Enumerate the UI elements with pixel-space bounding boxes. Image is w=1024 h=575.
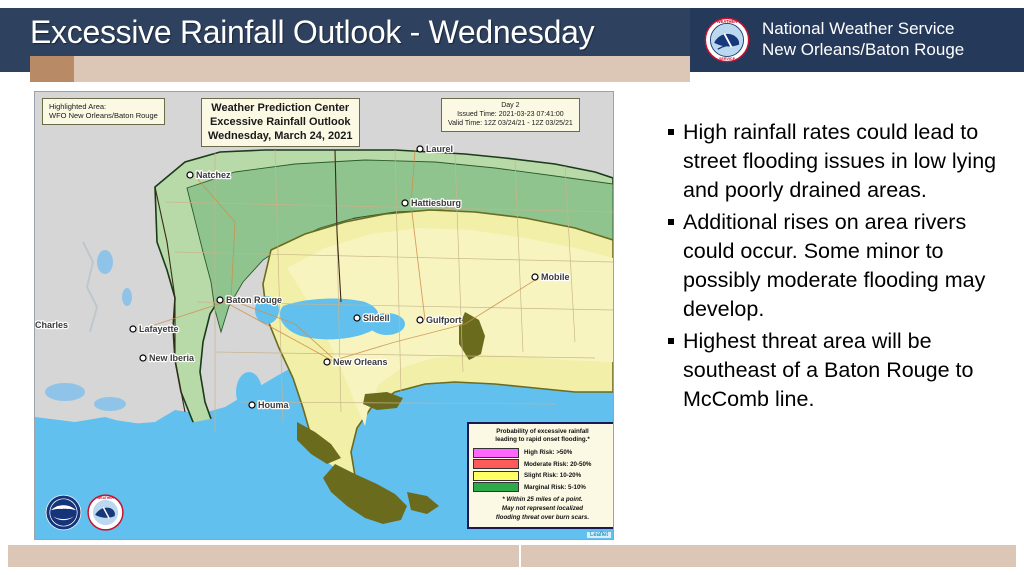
highlighted-area-line-1: Highlighted Area: (49, 102, 158, 111)
svg-text:WEATHER: WEATHER (717, 19, 738, 24)
city-label-houma: Houma (258, 400, 289, 410)
wpc-line-2: Excessive Rainfall Outlook (208, 116, 353, 130)
highlighted-area-line-2: WFO New Orleans/Baton Rouge (49, 111, 158, 120)
accent-stripe (30, 56, 690, 82)
svg-text:SERVICE: SERVICE (719, 57, 736, 61)
highlighted-area-callout: Highlighted Area: WFO New Orleans/Baton … (42, 98, 165, 125)
wpc-title-callout: Weather Prediction Center Excessive Rain… (201, 98, 360, 147)
city-label-hattiesburg: Hattiesburg (411, 198, 461, 208)
agency-line-2: New Orleans/Baton Rouge (762, 40, 964, 61)
nws-seal-icon: WEATHER SERVICE (704, 17, 750, 63)
key-messages-list: High rainfall rates could lead to street… (668, 118, 1012, 416)
city-label-slidell: Slidell (363, 313, 390, 323)
legend-label: High Risk: >50% (524, 449, 572, 456)
wpc-line-3: Wednesday, March 24, 2021 (208, 130, 353, 144)
noaa-seal-icon: NOAA (45, 494, 82, 531)
legend-note-line-2: May not represent localized (473, 505, 612, 514)
wpc-line-1: Weather Prediction Center (208, 102, 353, 116)
svg-text:NOAA: NOAA (56, 505, 71, 511)
legend-label: Marginal Risk: 5-10% (524, 484, 586, 491)
page-title: Excessive Rainfall Outlook - Wednesday (30, 14, 594, 51)
nws-seal-small-icon: WEATHER (87, 494, 124, 531)
day-line-1: Day 2 (448, 102, 573, 111)
legend-label: Slight Risk: 10-20% (524, 472, 581, 479)
city-label-baton-rouge: Baton Rouge (226, 295, 282, 305)
day-line-3: Valid Time: 12Z 03/24/21 - 12Z 03/25/21 (448, 120, 573, 129)
city-label-gulfport: Gulfport (426, 315, 462, 325)
bullet-marker-icon (668, 129, 674, 135)
leaflet-attribution[interactable]: Leaflet (587, 532, 611, 538)
legend-note-line-1: * Within 25 miles of a point. (473, 496, 612, 505)
city-label-laurel: Laurel (426, 144, 453, 154)
excessive-rainfall-outlook-map[interactable]: Natchez Laurel Hattiesburg Mobile Baton … (34, 91, 614, 540)
legend-row: Slight Risk: 10-20% (473, 471, 612, 481)
legend-swatch (473, 448, 519, 458)
legend-title-line-1: Probability of excessive rainfall (473, 428, 612, 436)
bullet-marker-icon (668, 338, 674, 344)
city-label-new-orleans: New Orleans (333, 357, 388, 367)
accent-block (30, 56, 74, 82)
footer-divider (519, 545, 521, 567)
city-label-mobile: Mobile (541, 272, 570, 282)
legend-title: Probability of excessive rainfall leadin… (473, 428, 612, 445)
legend-row: High Risk: >50% (473, 448, 612, 458)
day-validity-callout: Day 2 Issued Time: 2021-03-23 07:41:00 V… (441, 98, 580, 132)
nws-branding-panel: WEATHER SERVICE National Weather Service… (690, 8, 1024, 72)
legend-footnote: * Within 25 miles of a point. May not re… (473, 496, 612, 523)
svg-text:WEATHER: WEATHER (97, 496, 114, 500)
nws-agency-text: National Weather Service New Orleans/Bat… (762, 19, 964, 60)
city-label-natchez: Natchez (196, 170, 231, 180)
bullet-text: Additional rises on area rivers could oc… (683, 208, 1012, 325)
bullet-text: Highest threat area will be southeast of… (683, 327, 1012, 415)
legend-label: Moderate Risk: 20-50% (524, 461, 591, 468)
legend-row: Marginal Risk: 5-10% (473, 482, 612, 492)
legend-swatch (473, 482, 519, 492)
agency-line-1: National Weather Service (762, 19, 964, 40)
bullet-item: Highest threat area will be southeast of… (668, 327, 1012, 415)
legend-title-line-2: leading to rapid onset flooding.* (473, 436, 612, 444)
day-line-2: Issued Time: 2021-03-23 07:41:00 (448, 111, 573, 120)
bullet-marker-icon (668, 219, 674, 225)
legend-rows: High Risk: >50%Moderate Risk: 20-50%Slig… (473, 448, 612, 493)
legend-row: Moderate Risk: 20-50% (473, 459, 612, 469)
city-label-new-iberia: New Iberia (149, 353, 195, 363)
map-agency-seals: NOAA WEATHER (45, 494, 124, 531)
risk-legend: Probability of excessive rainfall leadin… (467, 422, 614, 529)
bullet-item: High rainfall rates could lead to street… (668, 118, 1012, 206)
legend-swatch (473, 459, 519, 469)
slide-footer-bar (8, 545, 1016, 567)
bullet-text: High rainfall rates could lead to street… (683, 118, 1012, 206)
legend-swatch (473, 471, 519, 481)
bullet-item: Additional rises on area rivers could oc… (668, 208, 1012, 325)
city-label-charles: Charles (35, 320, 68, 330)
legend-note-line-3: flooding threat over burn scars. (473, 514, 612, 523)
city-label-lafayette: Lafayette (139, 324, 179, 334)
